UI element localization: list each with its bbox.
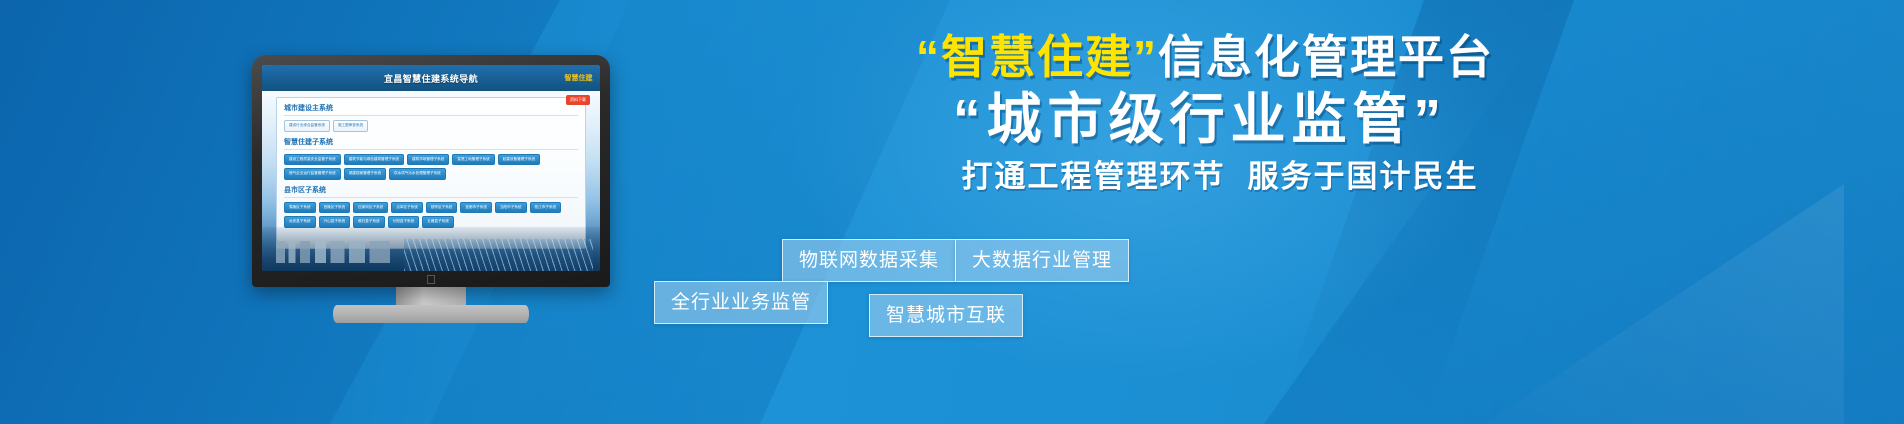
nav-chip[interactable]: 猇亭区子系统 bbox=[426, 202, 458, 214]
headline-subtitle-part-1: 打通工程管理环节 bbox=[962, 159, 1226, 194]
screen-header-title: 宜昌智慧住建系统导航 bbox=[384, 72, 478, 85]
nav-chip[interactable]: 建设工程质量安全监管子系统 bbox=[284, 154, 341, 166]
nav-chip[interactable]: 建设行业综合监管系统 bbox=[284, 120, 330, 132]
headline-rest-text: 信息化管理平台 bbox=[1158, 31, 1494, 83]
nav-chip[interactable]: 起重设备管理子系统 bbox=[498, 154, 540, 166]
feature-tag-smart-city-interconnection[interactable]: 智慧城市互联 bbox=[869, 294, 1023, 337]
section-chips-sub-system: 建设工程质量安全监管子系统 建筑节能与绿色建筑管理子系统 建筑市场管理子系统 智… bbox=[284, 154, 578, 180]
headline-highlight-text: 智慧住建 bbox=[941, 31, 1133, 83]
nav-chip[interactable]: 宜都市子系统 bbox=[460, 202, 492, 214]
headline-line-1: “智慧住建”信息化管理平台 bbox=[520, 34, 1890, 80]
nav-chip[interactable]: 供水供气污水处理管理子系统 bbox=[389, 168, 446, 180]
nav-chip[interactable]: 枝江市子系统 bbox=[530, 202, 562, 214]
nav-chip[interactable]: 当阳市子系统 bbox=[495, 202, 527, 214]
nav-chip[interactable]: 建筑节能与绿色建筑管理子系统 bbox=[344, 154, 404, 166]
headline-line-2: “城市级行业监管” bbox=[510, 92, 1890, 147]
monitor-chin:  bbox=[252, 271, 610, 287]
nav-chip[interactable]: 西陵区子系统 bbox=[319, 202, 351, 214]
nav-chip[interactable]: 点军区子系统 bbox=[391, 202, 423, 214]
section-chips-district-system: 夷陵区子系统 西陵区子系统 伍家岗区子系统 点军区子系统 猇亭区子系统 宜都市子… bbox=[284, 202, 578, 228]
screen-cityscape-image bbox=[262, 227, 600, 271]
quote-close-mark: ” bbox=[1133, 31, 1158, 83]
feature-tag-industry-wide-supervision[interactable]: 全行业业务监管 bbox=[654, 281, 828, 324]
monitor-base bbox=[333, 305, 529, 323]
nav-chip[interactable]: 智慧工地管理子系统 bbox=[452, 154, 494, 166]
headline-block: “智慧住建”信息化管理平台 “城市级行业监管” 打通工程管理环节服务于国计民生 bbox=[630, 34, 1890, 192]
headline-subtitle-part-2: 服务于国计民生 bbox=[1248, 159, 1479, 194]
feature-tag-iot-data-collection[interactable]: 物联网数据采集 bbox=[782, 239, 956, 282]
section-title-district-system: 县市区子系统 bbox=[284, 185, 578, 198]
quote-open-mark: “ bbox=[916, 31, 941, 83]
nav-chip[interactable]: 伍家岗区子系统 bbox=[353, 202, 388, 214]
nav-chip[interactable]: 燃气企业运行监管管理子系统 bbox=[284, 168, 341, 180]
feature-tag-bigdata-industry-management[interactable]: 大数据行业管理 bbox=[955, 239, 1129, 282]
headline-line-3: 打通工程管理环节服务于国计民生 bbox=[550, 161, 1890, 192]
apple-logo-icon:  bbox=[426, 273, 436, 286]
nav-chip[interactable]: 施工图审查系统 bbox=[333, 120, 368, 132]
nav-chip[interactable]: 城建档案管理子系统 bbox=[344, 168, 386, 180]
promotional-banner: 宜昌智慧住建系统导航 智慧住建 ZHIHUI ZHUJIAN 资料下载 城市建设… bbox=[0, 0, 1904, 424]
nav-chip[interactable]: 建筑市场管理子系统 bbox=[407, 154, 449, 166]
nav-chip[interactable]: 夷陵区子系统 bbox=[284, 202, 316, 214]
